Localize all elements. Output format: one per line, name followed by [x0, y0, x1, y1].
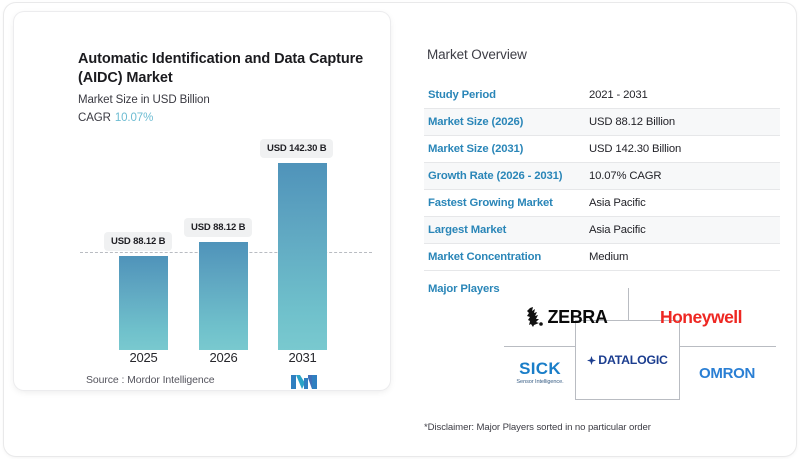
- bar-label-2025: USD 88.12 B: [104, 232, 172, 251]
- row-key: Market Size (2031): [424, 143, 589, 155]
- logo-omron: OMRON: [684, 358, 770, 388]
- chart-card: Automatic Identification and Data Captur…: [14, 12, 390, 390]
- logo-sick: SICK Sensor Intelligence.: [506, 352, 574, 392]
- table-row: Market Size (2026) USD 88.12 Billion: [424, 109, 780, 136]
- row-key: Fastest Growing Market: [424, 197, 589, 209]
- row-value: 10.07% CAGR: [589, 170, 661, 182]
- logo-datalogic: DATALOGIC: [576, 340, 679, 380]
- row-key: Largest Market: [424, 224, 589, 236]
- row-value: USD 88.12 Billion: [589, 116, 675, 128]
- datalogic-wordmark: DATALOGIC: [598, 353, 667, 367]
- market-infographic: Automatic Identification and Data Captur…: [0, 0, 800, 459]
- zebra-head-icon: [527, 307, 545, 327]
- row-value: Asia Pacific: [589, 197, 646, 209]
- zebra-wordmark: ZEBRA: [548, 307, 608, 328]
- table-row: Study Period 2021 - 2031: [424, 82, 780, 109]
- bar-chart-plot: USD 88.12 B 2025 USD 88.12 B 2026 USD 14…: [14, 12, 390, 390]
- market-overview-title: Market Overview: [427, 47, 527, 62]
- row-value: Medium: [589, 251, 628, 263]
- logo-honeywell: Honeywell: [636, 300, 766, 334]
- major-players-label: Major Players: [428, 283, 500, 295]
- logo-zebra: ZEBRA: [508, 300, 626, 334]
- x-tick-2025: 2025: [119, 350, 168, 365]
- x-tick-2026: 2026: [199, 350, 248, 365]
- row-value: 2021 - 2031: [589, 89, 648, 101]
- disclaimer-text: *Disclaimer: Major Players sorted in no …: [424, 422, 651, 433]
- row-value: USD 142.30 Billion: [589, 143, 681, 155]
- market-overview-table: Study Period 2021 - 2031 Market Size (20…: [424, 82, 780, 271]
- row-key: Market Size (2026): [424, 116, 589, 128]
- bar-2026: [199, 242, 248, 350]
- source-label: Source : Mordor Intelligence: [86, 374, 215, 386]
- row-key: Growth Rate (2026 - 2031): [424, 170, 589, 182]
- bar-2025: [119, 256, 168, 350]
- major-players-logo-grid: ZEBRA Honeywell SICK Sensor Intelligence…: [500, 288, 780, 400]
- sick-tagline: Sensor Intelligence.: [516, 379, 563, 385]
- x-tick-2031: 2031: [278, 350, 327, 365]
- table-row: Largest Market Asia Pacific: [424, 217, 780, 244]
- datalogic-mark-icon: [587, 356, 596, 365]
- table-row: Fastest Growing Market Asia Pacific: [424, 190, 780, 217]
- table-row: Market Size (2031) USD 142.30 Billion: [424, 136, 780, 163]
- table-row: Market Concentration Medium: [424, 244, 780, 271]
- honeywell-wordmark: Honeywell: [660, 307, 742, 328]
- table-row: Growth Rate (2026 - 2031) 10.07% CAGR: [424, 163, 780, 190]
- bar-2031: [278, 163, 327, 350]
- row-key: Market Concentration: [424, 251, 589, 263]
- sick-wordmark: SICK: [519, 360, 561, 377]
- omron-wordmark: OMRON: [699, 365, 755, 382]
- bar-label-2026: USD 88.12 B: [184, 218, 252, 237]
- row-value: Asia Pacific: [589, 224, 646, 236]
- bar-label-2031: USD 142.30 B: [260, 139, 333, 158]
- row-key: Study Period: [424, 89, 589, 101]
- mordor-intelligence-logo: [291, 373, 317, 389]
